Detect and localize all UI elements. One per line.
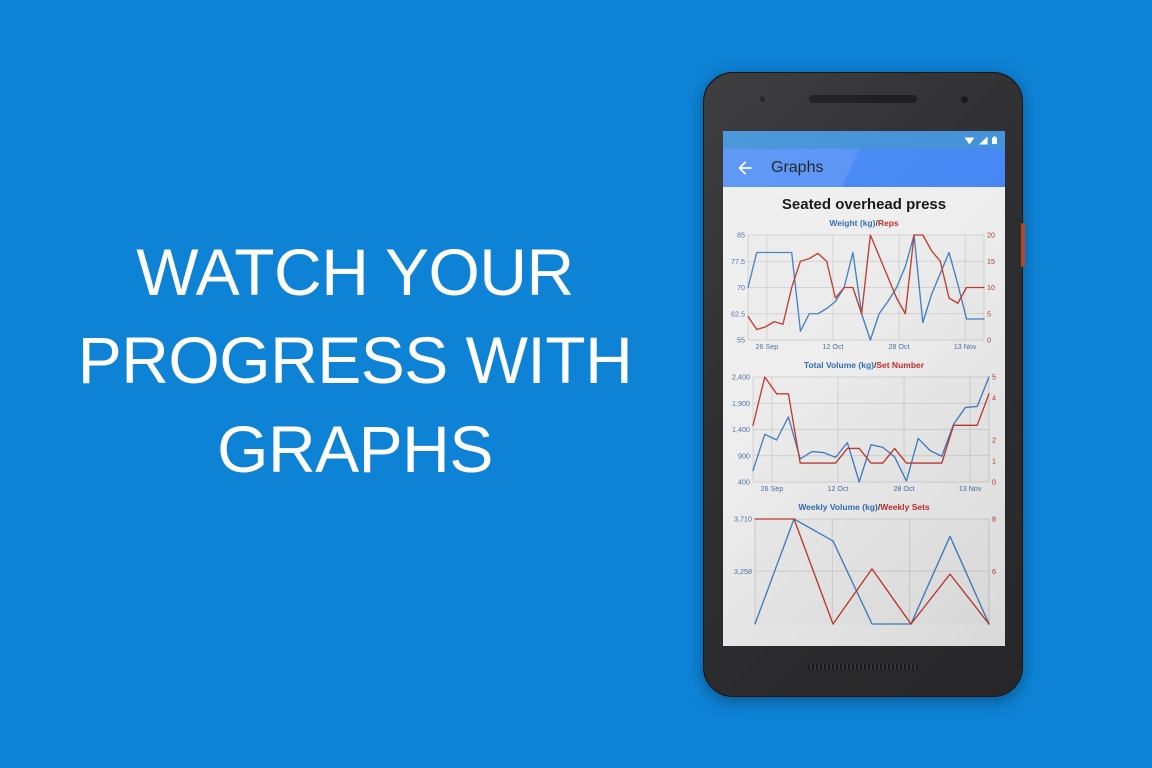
svg-text:20: 20 xyxy=(987,231,995,240)
headline-line-3: GRAPHS xyxy=(40,405,670,493)
chart-3-legend: Weekly Volume (kg)/Weekly Sets xyxy=(723,499,1005,514)
bottom-speaker-grill-icon xyxy=(808,664,918,670)
svg-text:8: 8 xyxy=(992,515,996,524)
chart-1-legend-blue: Weight (kg) xyxy=(829,218,875,228)
exercise-title: Seated overhead press xyxy=(723,193,1005,215)
chart-weight-reps[interactable]: Weight (kg)/Reps 8577.57062.555201510502… xyxy=(723,215,1005,357)
phone-top-bezel xyxy=(704,73,1022,131)
svg-text:10: 10 xyxy=(987,283,995,292)
svg-text:12 Oct: 12 Oct xyxy=(822,342,843,351)
svg-text:3,710: 3,710 xyxy=(734,515,752,524)
proximity-sensor-icon xyxy=(961,96,968,103)
promo-banner: WATCH YOUR PROGRESS WITH GRAPHS xyxy=(0,0,1152,768)
svg-text:70: 70 xyxy=(737,283,745,292)
svg-text:28 Oct: 28 Oct xyxy=(893,484,914,493)
svg-text:62.5: 62.5 xyxy=(731,309,745,318)
chart-1-legend-red: Reps xyxy=(878,218,899,228)
chart-2-legend-blue: Total Volume (kg) xyxy=(804,360,874,370)
svg-text:400: 400 xyxy=(738,478,750,487)
chart-2-plot[interactable]: 2,4001,9001,4009004005421026 Sep12 Oct28… xyxy=(723,372,1005,497)
chart-2-legend-red: Set Number xyxy=(876,360,924,370)
chart-weekly-volume-weekly-sets[interactable]: Weekly Volume (kg)/Weekly Sets 3,7103,25… xyxy=(723,499,1005,641)
signal-icon xyxy=(978,136,988,145)
svg-text:1,900: 1,900 xyxy=(732,399,750,408)
promo-headline: WATCH YOUR PROGRESS WITH GRAPHS xyxy=(40,228,670,493)
chart-3-legend-blue: Weekly Volume (kg) xyxy=(798,502,878,512)
headline-line-1: WATCH YOUR xyxy=(40,228,670,316)
svg-text:85: 85 xyxy=(737,231,745,240)
svg-text:2,400: 2,400 xyxy=(732,373,750,382)
chart-2-legend: Total Volume (kg)/Set Number xyxy=(723,357,1005,372)
svg-text:15: 15 xyxy=(987,257,995,266)
chart-3-plot[interactable]: 3,7103,25886 xyxy=(723,514,1005,639)
headline-line-2: PROGRESS WITH xyxy=(40,316,670,404)
svg-text:0: 0 xyxy=(987,336,991,345)
svg-text:1,400: 1,400 xyxy=(732,425,750,434)
graphs-scroll-content[interactable]: Seated overhead press Weight (kg)/Reps 8… xyxy=(723,187,1005,646)
app-bar-title: Graphs xyxy=(771,159,823,177)
back-arrow-icon[interactable] xyxy=(735,158,755,178)
svg-text:2: 2 xyxy=(992,436,996,445)
front-camera-icon xyxy=(758,95,767,104)
app-bar: Graphs xyxy=(723,149,1005,187)
svg-text:13 Nov: 13 Nov xyxy=(959,484,982,493)
power-button[interactable] xyxy=(1021,223,1025,267)
svg-text:5: 5 xyxy=(987,309,991,318)
phone-device-mockup: Graphs Seated overhead press Weight (kg)… xyxy=(703,72,1023,697)
svg-text:6: 6 xyxy=(992,567,996,576)
status-bar xyxy=(723,131,1005,149)
svg-text:28 Oct: 28 Oct xyxy=(888,342,909,351)
chart-3-legend-red: Weekly Sets xyxy=(880,502,929,512)
chart-1-plot[interactable]: 8577.57062.5552015105026 Sep12 Oct28 Oct… xyxy=(723,230,1005,355)
svg-text:26 Sep: 26 Sep xyxy=(755,342,778,351)
svg-text:55: 55 xyxy=(737,336,745,345)
wifi-icon xyxy=(964,136,975,145)
svg-text:4: 4 xyxy=(992,394,996,403)
svg-text:900: 900 xyxy=(738,451,750,460)
svg-text:0: 0 xyxy=(992,478,996,487)
svg-text:26 Sep: 26 Sep xyxy=(760,484,783,493)
chart-total-volume-set-number[interactable]: Total Volume (kg)/Set Number 2,4001,9001… xyxy=(723,357,1005,499)
svg-text:12 Oct: 12 Oct xyxy=(827,484,848,493)
svg-text:3,258: 3,258 xyxy=(734,567,752,576)
earpiece-speaker-icon xyxy=(809,95,917,103)
svg-text:1: 1 xyxy=(992,457,996,466)
chart-1-legend: Weight (kg)/Reps xyxy=(723,215,1005,230)
svg-text:13 Nov: 13 Nov xyxy=(954,342,977,351)
phone-screen: Graphs Seated overhead press Weight (kg)… xyxy=(723,131,1005,646)
battery-icon xyxy=(991,136,998,145)
svg-text:77.5: 77.5 xyxy=(731,257,745,266)
svg-text:5: 5 xyxy=(992,373,996,382)
